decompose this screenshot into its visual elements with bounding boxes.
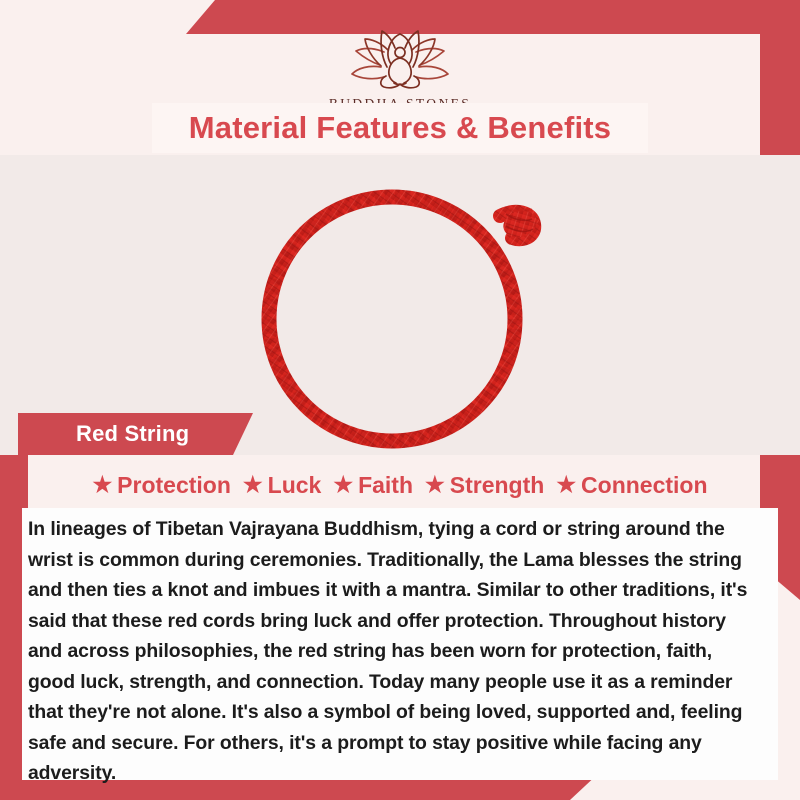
lotus-meditation-figure-icon [325, 30, 475, 92]
star-icon: ★ [333, 474, 353, 496]
material-label: Red String [76, 421, 189, 447]
benefit-item-strength: ★ Strength [425, 472, 544, 499]
benefit-label: Connection [581, 472, 708, 499]
brand-logo: BUDDHA STONES [0, 30, 800, 112]
benefit-item-protection: ★ Protection [92, 472, 230, 499]
page-title: Material Features & Benefits [189, 110, 612, 146]
star-icon: ★ [425, 474, 445, 496]
star-icon: ★ [92, 474, 112, 496]
benefits-list: ★ Protection ★ Luck ★ Faith ★ Strength ★… [30, 466, 770, 504]
description-text: In lineages of Tibetan Vajrayana Buddhis… [28, 514, 764, 789]
benefit-label: Protection [117, 472, 231, 499]
star-icon: ★ [556, 474, 576, 496]
infographic-page: BUDDHA STONES Red String [0, 0, 800, 800]
material-label-ribbon: Red String [18, 413, 253, 455]
description-panel: In lineages of Tibetan Vajrayana Buddhis… [22, 508, 778, 780]
star-icon: ★ [243, 474, 263, 496]
benefit-item-faith: ★ Faith [333, 472, 413, 499]
benefit-label: Luck [268, 472, 322, 499]
benefit-label: Faith [358, 472, 413, 499]
frame-top-accent [0, 0, 800, 34]
benefit-item-connection: ★ Connection [556, 472, 707, 499]
title-banner: Material Features & Benefits [152, 103, 648, 153]
product-image-red-string-bracelet [232, 164, 572, 454]
benefit-item-luck: ★ Luck [243, 472, 321, 499]
benefit-label: Strength [450, 472, 545, 499]
